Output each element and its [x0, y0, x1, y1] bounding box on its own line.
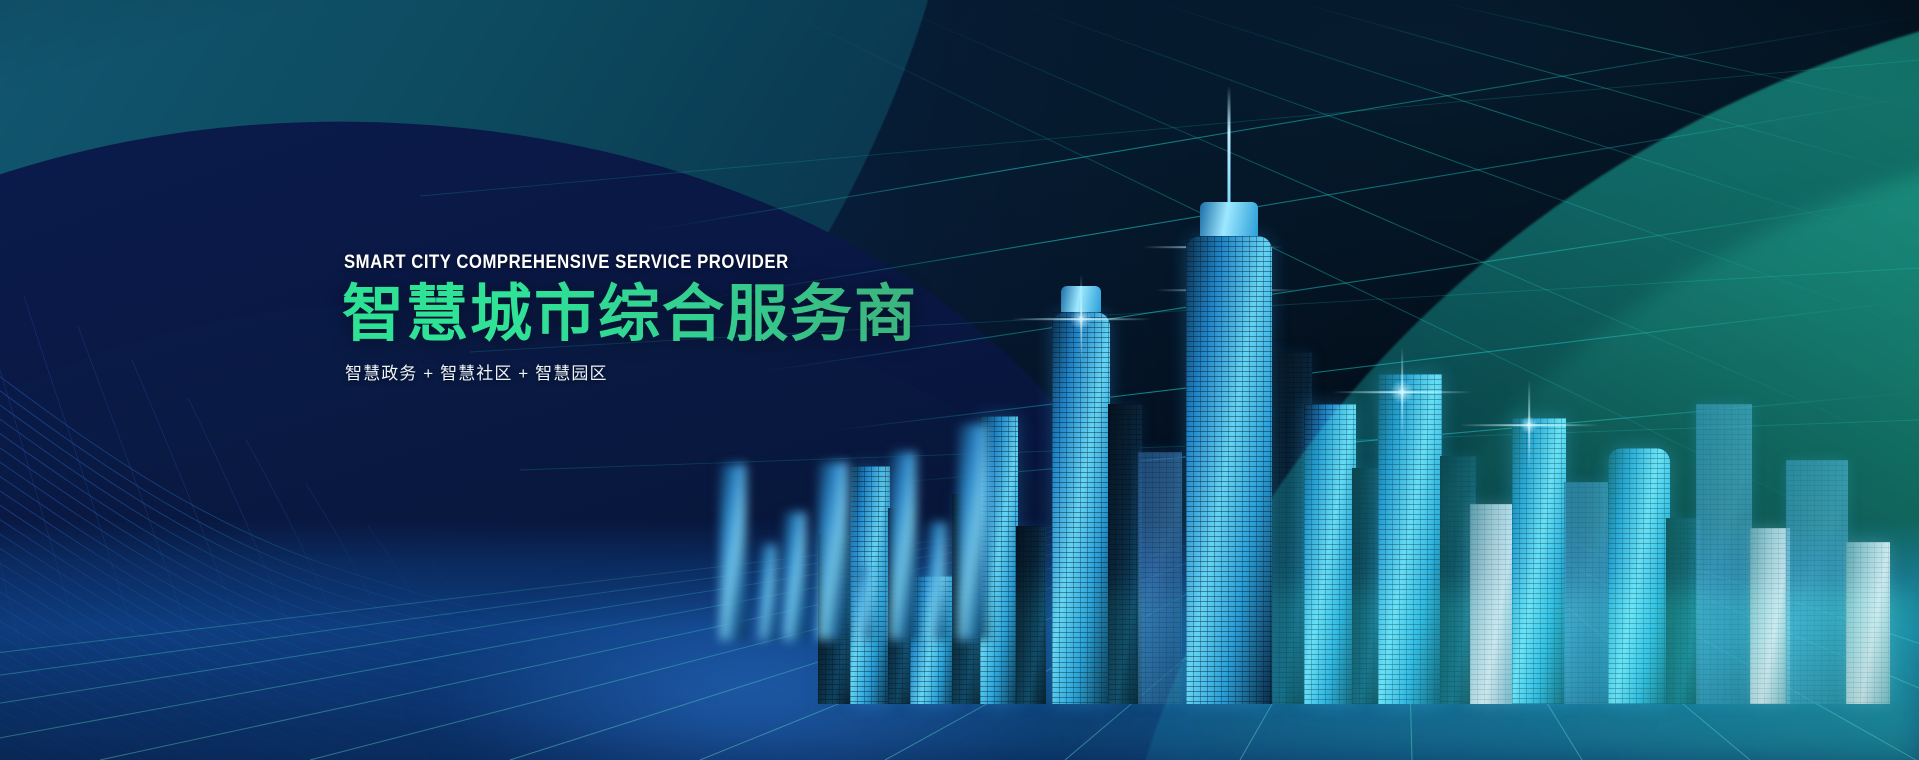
- hero-copy-block: SMART CITY COMPREHENSIVE SERVICE PROVIDE…: [342, 252, 1062, 384]
- bottom-teal-wash: [0, 590, 1919, 760]
- banner-eyebrow: SMART CITY COMPREHENSIVE SERVICE PROVIDE…: [344, 252, 976, 274]
- banner-subline: 智慧政务 + 智慧社区 + 智慧园区: [345, 359, 1062, 384]
- banner-headline: 智慧城市综合服务商: [342, 280, 1062, 349]
- hero-banner: SMART CITY COMPREHENSIVE SERVICE PROVIDE…: [0, 0, 1919, 760]
